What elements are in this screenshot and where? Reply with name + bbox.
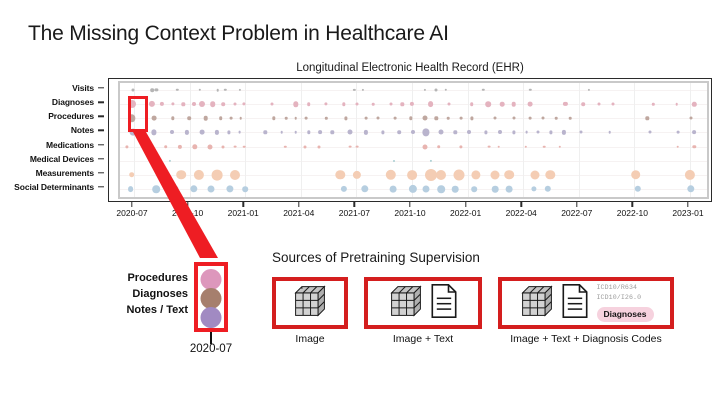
data-point bbox=[690, 117, 693, 120]
source-caption-image-text-codes: Image + Text + Diagnosis Codes bbox=[482, 333, 690, 345]
data-point bbox=[435, 89, 438, 92]
horizontal-gridline bbox=[120, 161, 707, 162]
data-point bbox=[264, 131, 267, 134]
y-tick-label-procedures: Procedures bbox=[48, 111, 94, 121]
data-point bbox=[187, 117, 191, 121]
data-point bbox=[530, 170, 539, 179]
y-axis: VisitsDiagnosesProceduresNotesMedication… bbox=[0, 78, 108, 202]
data-point bbox=[210, 101, 216, 107]
vertical-gridline bbox=[468, 83, 469, 197]
data-point bbox=[295, 131, 298, 134]
callout-date-label: 2020-07 bbox=[170, 343, 252, 355]
vertical-gridline bbox=[356, 83, 357, 197]
x-tick-mark bbox=[465, 202, 466, 207]
data-point bbox=[439, 130, 444, 135]
x-tick-label-2022-01: 2022-01 bbox=[450, 208, 481, 218]
data-point bbox=[386, 170, 396, 180]
data-point bbox=[491, 170, 500, 179]
data-point bbox=[233, 103, 236, 106]
data-point bbox=[325, 103, 328, 106]
source-card-image[interactable] bbox=[272, 277, 348, 329]
data-point bbox=[193, 170, 203, 180]
source-caption-image-text: Image + Text bbox=[364, 333, 482, 345]
data-point bbox=[436, 170, 446, 180]
data-point bbox=[227, 131, 230, 134]
x-tick-label-2023-01: 2023-01 bbox=[672, 208, 703, 218]
y-tick-label-notes: Notes bbox=[71, 125, 94, 135]
data-point bbox=[543, 145, 546, 148]
data-point bbox=[178, 144, 182, 148]
data-point bbox=[295, 117, 298, 120]
data-point bbox=[470, 117, 473, 120]
vertical-gridline bbox=[245, 83, 246, 197]
ehr-chart: Longitudinal Electronic Health Record (E… bbox=[0, 62, 720, 220]
vertical-gridline bbox=[523, 83, 524, 197]
data-point bbox=[692, 131, 696, 135]
vertical-gridline bbox=[634, 83, 635, 197]
data-point bbox=[217, 89, 220, 92]
data-point bbox=[243, 186, 249, 192]
y-tick-mark bbox=[98, 186, 104, 187]
data-point bbox=[355, 103, 358, 106]
data-point bbox=[319, 131, 323, 135]
data-point bbox=[579, 131, 582, 134]
icd-code-1: ICD10/R634 bbox=[597, 284, 638, 292]
data-point bbox=[498, 130, 502, 134]
data-point bbox=[531, 186, 536, 191]
plot-points-layer bbox=[120, 83, 707, 197]
callout-label-notes: Notes / Text bbox=[70, 302, 188, 318]
data-point bbox=[185, 130, 189, 134]
y-tick-mark bbox=[98, 144, 104, 145]
data-point bbox=[271, 103, 274, 106]
callout-label-diagnoses: Diagnoses bbox=[70, 286, 188, 302]
data-point bbox=[280, 131, 283, 134]
data-point bbox=[612, 103, 615, 106]
data-point bbox=[336, 170, 345, 179]
y-tick-label-visits: Visits bbox=[72, 83, 94, 93]
data-point bbox=[238, 131, 241, 134]
data-point bbox=[353, 171, 361, 179]
data-point bbox=[484, 131, 487, 134]
data-point bbox=[467, 130, 471, 134]
vertical-gridline bbox=[579, 83, 580, 197]
data-point bbox=[221, 102, 225, 106]
x-tick-mark bbox=[131, 202, 132, 207]
x-tick-label-2021-10: 2021-10 bbox=[394, 208, 425, 218]
data-point bbox=[146, 144, 151, 149]
data-point bbox=[215, 130, 219, 134]
data-point bbox=[422, 129, 429, 136]
data-point bbox=[239, 117, 242, 120]
data-point bbox=[562, 130, 566, 134]
data-point bbox=[437, 145, 441, 149]
y-tick-label-diagnoses: Diagnoses bbox=[52, 97, 94, 107]
data-point bbox=[219, 117, 223, 121]
data-point bbox=[394, 117, 397, 120]
x-axis: 2020-072020-102021-012021-042021-072021-… bbox=[118, 202, 709, 220]
y-tick-label-social-determinants: Social Determinants bbox=[14, 182, 94, 192]
data-point bbox=[411, 130, 415, 134]
data-point bbox=[155, 88, 158, 91]
data-point bbox=[208, 144, 213, 149]
data-point bbox=[410, 102, 414, 106]
data-point bbox=[488, 145, 491, 148]
x-tick-label-2021-07: 2021-07 bbox=[339, 208, 370, 218]
data-point bbox=[550, 131, 553, 134]
data-point bbox=[164, 145, 168, 149]
data-point bbox=[376, 117, 379, 120]
x-tick-mark bbox=[409, 202, 410, 207]
data-point bbox=[153, 185, 161, 193]
data-point bbox=[471, 186, 477, 192]
cube-icon bbox=[292, 283, 328, 324]
callout-box bbox=[194, 262, 228, 332]
x-tick-mark bbox=[354, 202, 355, 207]
data-point bbox=[512, 131, 515, 134]
data-point bbox=[129, 172, 135, 178]
data-point bbox=[452, 186, 459, 193]
x-tick-label-2020-10: 2020-10 bbox=[172, 208, 203, 218]
x-tick-label-2022-04: 2022-04 bbox=[506, 208, 537, 218]
y-tick-mark bbox=[98, 130, 104, 131]
data-point bbox=[243, 145, 246, 148]
data-point bbox=[157, 170, 167, 180]
data-point bbox=[545, 186, 551, 192]
vertical-gridline bbox=[301, 83, 302, 197]
x-tick-label-2021-04: 2021-04 bbox=[283, 208, 314, 218]
vertical-gridline bbox=[690, 83, 691, 197]
x-tick-mark bbox=[687, 202, 688, 207]
data-point bbox=[389, 103, 392, 106]
data-point bbox=[128, 186, 134, 192]
sources-heading: Sources of Pretraining Supervision bbox=[272, 250, 672, 265]
data-point bbox=[233, 145, 236, 148]
x-tick-mark bbox=[520, 202, 521, 207]
callout-label-procedures: Procedures bbox=[70, 270, 188, 286]
data-point bbox=[307, 131, 310, 134]
cube-icon bbox=[388, 283, 424, 324]
data-point bbox=[542, 117, 545, 120]
y-tick-label-medications: Medications bbox=[46, 140, 94, 150]
horizontal-gridline bbox=[120, 90, 707, 91]
data-point bbox=[407, 170, 417, 180]
data-point bbox=[537, 131, 540, 134]
data-point bbox=[506, 186, 513, 193]
data-point bbox=[348, 145, 351, 148]
data-point bbox=[125, 145, 128, 148]
data-point bbox=[635, 186, 641, 192]
vertical-gridline bbox=[190, 83, 191, 197]
diagnosis-codes-group: ICD10/R634 ICD10/I26.0 Diagnoses bbox=[597, 284, 654, 322]
data-point bbox=[364, 130, 368, 134]
data-point bbox=[131, 89, 134, 92]
data-point bbox=[149, 101, 155, 107]
data-point bbox=[453, 169, 464, 180]
procedures-dot bbox=[201, 269, 222, 290]
x-tick-mark bbox=[187, 202, 188, 207]
y-tick-mark bbox=[98, 101, 104, 102]
source-card-image-text[interactable] bbox=[364, 277, 482, 329]
data-point bbox=[361, 185, 368, 192]
data-point bbox=[171, 117, 174, 120]
data-point bbox=[200, 130, 205, 135]
data-point bbox=[472, 170, 481, 179]
page-title: The Missing Context Problem in Healthcar… bbox=[28, 22, 449, 46]
data-point bbox=[365, 117, 368, 120]
data-point bbox=[425, 169, 437, 181]
source-caption-image: Image bbox=[272, 333, 348, 345]
data-point bbox=[555, 117, 558, 120]
data-point bbox=[272, 117, 275, 120]
data-point bbox=[447, 117, 450, 120]
data-point bbox=[648, 131, 651, 134]
y-tick-mark bbox=[98, 87, 104, 88]
data-point bbox=[305, 117, 308, 120]
data-point bbox=[437, 185, 445, 193]
data-point bbox=[393, 160, 395, 162]
data-point bbox=[435, 117, 438, 120]
data-point bbox=[528, 102, 533, 107]
data-point bbox=[492, 186, 499, 193]
data-point bbox=[170, 130, 174, 134]
data-point bbox=[459, 145, 462, 148]
data-point bbox=[341, 186, 347, 192]
diagnoses-pill: Diagnoses bbox=[597, 307, 654, 322]
y-tick-mark bbox=[98, 116, 104, 117]
data-point bbox=[227, 185, 234, 192]
x-tick-mark bbox=[576, 202, 577, 207]
data-point bbox=[422, 116, 427, 121]
data-point bbox=[345, 117, 348, 120]
data-point bbox=[676, 131, 679, 134]
x-tick-mark bbox=[632, 202, 633, 207]
data-point bbox=[152, 116, 157, 121]
data-point bbox=[160, 102, 164, 106]
data-point bbox=[497, 145, 500, 148]
data-point bbox=[525, 131, 528, 134]
data-point bbox=[687, 185, 694, 192]
diagnoses-dot bbox=[201, 288, 222, 309]
plot-area bbox=[118, 81, 709, 199]
highlight-box bbox=[128, 96, 148, 132]
data-point bbox=[409, 185, 417, 193]
data-point bbox=[631, 170, 641, 180]
data-point bbox=[448, 103, 451, 106]
x-tick-label-2020-07: 2020-07 bbox=[116, 208, 147, 218]
data-point bbox=[569, 117, 572, 120]
data-point bbox=[222, 145, 225, 148]
data-point bbox=[390, 186, 397, 193]
data-point bbox=[330, 131, 333, 134]
data-point bbox=[318, 145, 321, 148]
data-point bbox=[428, 101, 434, 107]
document-icon bbox=[429, 283, 459, 324]
data-point bbox=[545, 170, 554, 179]
x-tick-label-2022-10: 2022-10 bbox=[617, 208, 648, 218]
data-point bbox=[182, 102, 185, 105]
x-tick-label-2021-01: 2021-01 bbox=[228, 208, 259, 218]
data-point bbox=[171, 103, 174, 106]
data-point bbox=[192, 102, 196, 106]
vertical-gridline bbox=[412, 83, 413, 197]
data-point bbox=[151, 130, 156, 135]
data-point bbox=[230, 170, 240, 180]
data-point bbox=[692, 102, 696, 106]
data-point bbox=[355, 145, 358, 148]
x-tick-mark bbox=[242, 202, 243, 207]
sources-section: Sources of Pretraining Supervision bbox=[272, 250, 672, 360]
data-point bbox=[693, 145, 696, 148]
data-point bbox=[372, 103, 375, 106]
data-point bbox=[646, 117, 649, 120]
data-point bbox=[347, 130, 352, 135]
data-point bbox=[684, 170, 694, 180]
data-point bbox=[199, 101, 205, 107]
data-point bbox=[675, 103, 678, 106]
data-point bbox=[304, 145, 307, 148]
data-point bbox=[460, 117, 463, 120]
data-point bbox=[504, 170, 514, 180]
data-point bbox=[176, 170, 186, 180]
y-tick-label-medical-devices: Medical Devices bbox=[30, 154, 94, 164]
y-tick-label-measurements: Measurements bbox=[36, 168, 94, 178]
data-point bbox=[307, 102, 311, 106]
data-point bbox=[563, 102, 567, 106]
data-point bbox=[190, 185, 197, 192]
data-point bbox=[485, 101, 491, 107]
data-point bbox=[598, 103, 601, 106]
data-point bbox=[512, 117, 515, 120]
data-point bbox=[422, 144, 427, 149]
data-point bbox=[422, 185, 429, 192]
chart-title: Longitudinal Electronic Health Record (E… bbox=[108, 62, 712, 74]
data-point bbox=[609, 131, 612, 134]
data-point bbox=[529, 117, 532, 120]
notes-dot bbox=[201, 307, 222, 328]
data-point bbox=[192, 144, 197, 149]
x-tick-mark bbox=[298, 202, 299, 207]
y-tick-mark bbox=[98, 172, 104, 173]
data-point bbox=[381, 131, 384, 134]
data-point bbox=[397, 131, 401, 135]
data-point bbox=[212, 169, 223, 180]
cube-icon bbox=[519, 283, 555, 324]
source-card-image-text-codes[interactable]: ICD10/R634 ICD10/I26.0 Diagnoses bbox=[498, 277, 674, 329]
data-point bbox=[581, 102, 585, 106]
data-point bbox=[208, 185, 215, 192]
data-point bbox=[203, 116, 208, 121]
data-point bbox=[230, 117, 233, 120]
data-point bbox=[500, 102, 505, 107]
horizontal-gridline bbox=[120, 118, 707, 119]
data-point bbox=[470, 102, 474, 106]
callout-labels: Procedures Diagnoses Notes / Text bbox=[70, 270, 188, 318]
data-point bbox=[171, 185, 178, 192]
data-point bbox=[453, 131, 456, 134]
data-point bbox=[150, 88, 154, 92]
y-tick-mark bbox=[98, 158, 104, 159]
x-tick-label-2022-07: 2022-07 bbox=[561, 208, 592, 218]
data-point bbox=[511, 102, 516, 107]
icd-code-2: ICD10/I26.0 bbox=[597, 294, 642, 302]
data-point bbox=[293, 101, 298, 106]
data-point bbox=[494, 117, 497, 120]
data-point bbox=[401, 102, 404, 105]
data-point bbox=[285, 117, 288, 120]
document-icon bbox=[560, 283, 590, 324]
data-point bbox=[677, 145, 680, 148]
data-point bbox=[342, 102, 345, 105]
